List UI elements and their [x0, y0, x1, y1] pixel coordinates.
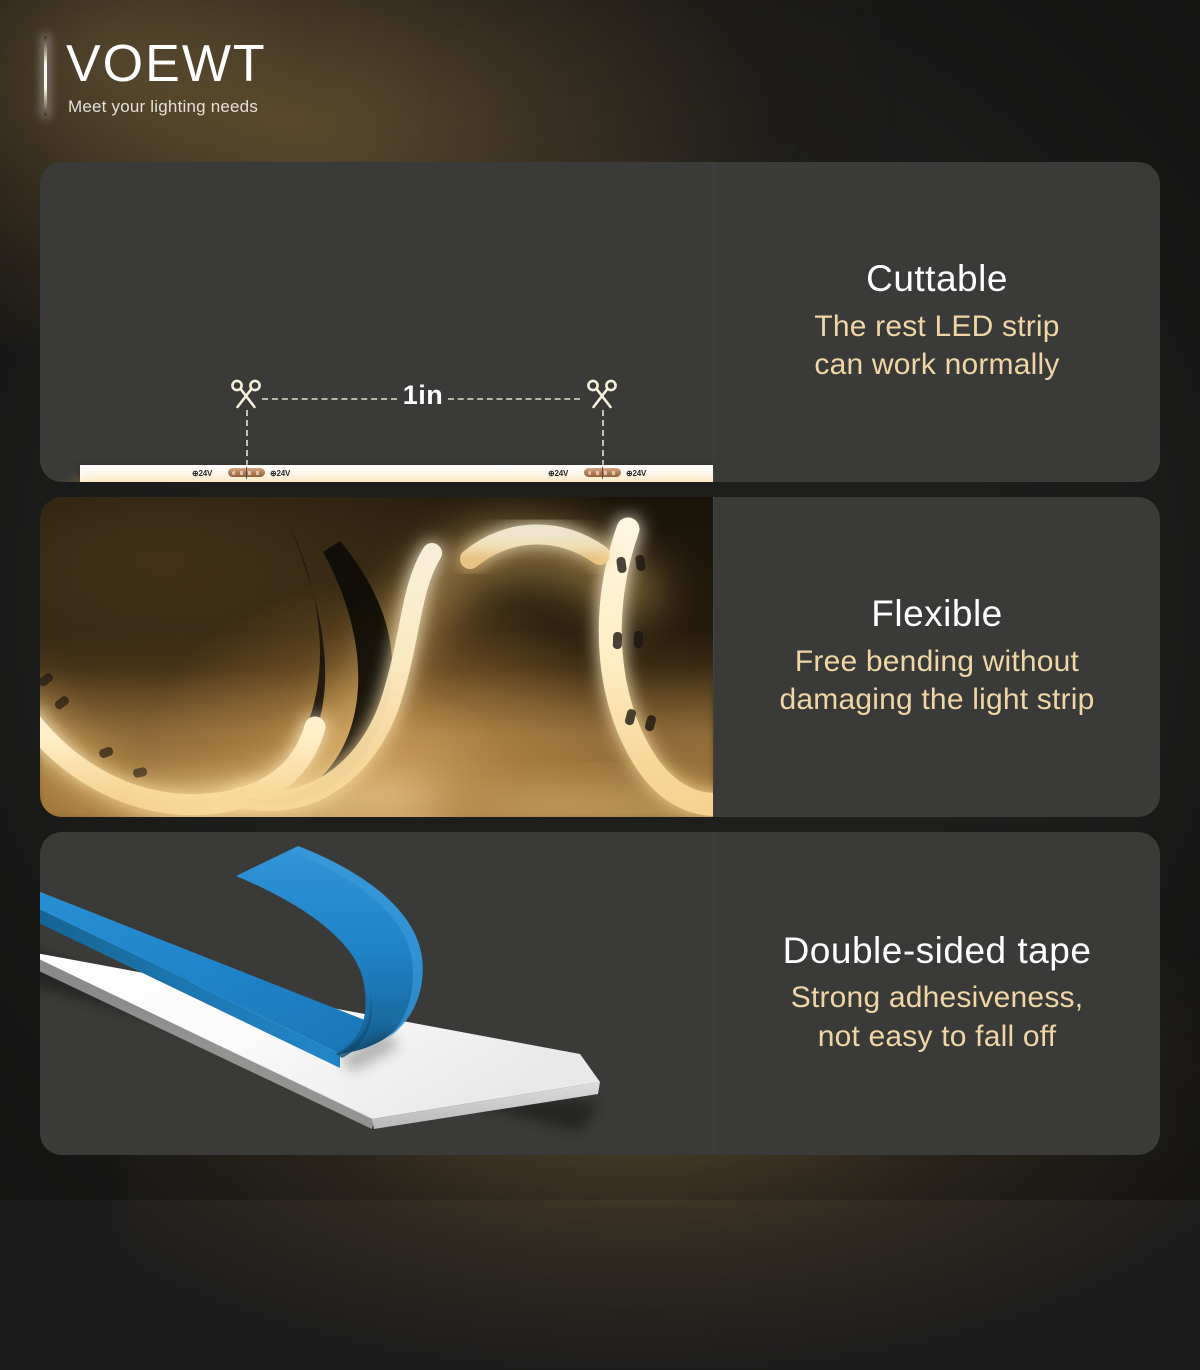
- feature-card-cuttable: 1in ⊕24V ⊕24V - - ⊕24V: [40, 162, 1160, 482]
- feature-title: Cuttable: [866, 259, 1008, 300]
- flexible-text-block: Flexible Free bending without damaging t…: [713, 497, 1160, 817]
- voltage-label-positive: ⊕24V: [270, 469, 290, 478]
- voltage-label-positive: ⊕24V: [626, 469, 646, 478]
- voltage-label-positive: ⊕24V: [548, 469, 568, 478]
- feature-description: Strong adhesiveness, not easy to fall of…: [791, 979, 1084, 1056]
- cut-tick: [246, 467, 247, 479]
- dimension-line: [448, 398, 580, 400]
- voltage-label-positive: ⊕24V: [192, 469, 212, 478]
- bent-led-strip-photo: [40, 497, 713, 817]
- dimension-line: [262, 398, 397, 400]
- cuttable-diagram: 1in ⊕24V ⊕24V - - ⊕24V: [40, 162, 713, 482]
- tape-text-block: Double-sided tape Strong adhesiveness, n…: [713, 832, 1160, 1155]
- feature-title: Flexible: [871, 594, 1003, 635]
- flexible-photo: [40, 497, 713, 817]
- led-strip-graphic: ⊕24V ⊕24V - - ⊕24V ⊕24V - -: [80, 465, 713, 482]
- feature-description: Free bending without damaging the light …: [780, 643, 1095, 720]
- feature-card-double-sided-tape: Double-sided tape Strong adhesiveness, n…: [40, 832, 1160, 1155]
- brand-accent-bar-icon: [44, 36, 47, 116]
- feature-description: The rest LED strip can work normally: [814, 308, 1059, 385]
- feature-card-flexible: Flexible Free bending without damaging t…: [40, 497, 1160, 817]
- cut-tick: [602, 467, 603, 479]
- dimension-label: 1in: [397, 380, 449, 411]
- tape-illustration: [40, 832, 713, 1155]
- bent-strip-illustration: [40, 497, 713, 817]
- brand-header: VOEWT Meet your lighting needs: [0, 0, 1200, 150]
- scissors-icon: [229, 377, 263, 411]
- cuttable-text-block: Cuttable The rest LED strip can work nor…: [713, 162, 1160, 482]
- brand-name: VOEWT: [66, 38, 267, 90]
- peeling-tape-illustration: [40, 832, 713, 1155]
- brand-tagline: Meet your lighting needs: [68, 97, 258, 117]
- scissors-icon: [585, 377, 619, 411]
- tape-scene: [40, 832, 713, 1155]
- cut-scene: 1in ⊕24V ⊕24V - - ⊕24V: [40, 162, 713, 482]
- feature-title: Double-sided tape: [783, 931, 1092, 972]
